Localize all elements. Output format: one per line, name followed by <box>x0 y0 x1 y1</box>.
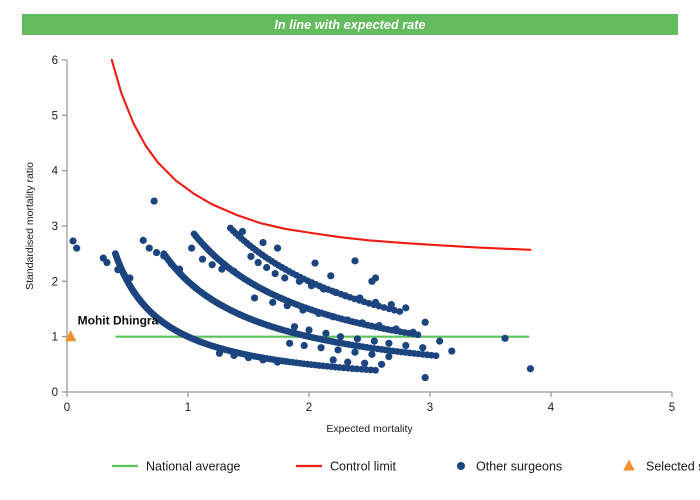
svg-text:5: 5 <box>669 402 675 414</box>
svg-text:6: 6 <box>52 55 58 67</box>
selected-surgeon-label: Mohit Dhingra <box>78 314 159 328</box>
svg-text:National average: National average <box>146 460 241 474</box>
svg-text:Control limit: Control limit <box>330 460 397 474</box>
svg-text:1: 1 <box>185 402 191 414</box>
svg-text:4: 4 <box>52 166 59 178</box>
svg-text:Selected surgeon: Selected surgeon <box>646 460 700 474</box>
other-surgeons-points[interactable] <box>69 198 534 382</box>
svg-text:3: 3 <box>52 221 58 233</box>
svg-text:Mohit Dhingra: Mohit Dhingra <box>78 314 159 328</box>
svg-text:Expected mortality: Expected mortality <box>326 423 413 435</box>
svg-text:3: 3 <box>427 402 433 414</box>
control-limit-line <box>112 60 531 250</box>
svg-text:Other surgeons: Other surgeons <box>476 460 562 474</box>
svg-text:1: 1 <box>52 332 58 344</box>
svg-text:0: 0 <box>52 387 58 399</box>
svg-text:5: 5 <box>52 110 58 122</box>
chart-legend: National averageControl limitOther surge… <box>112 460 700 474</box>
svg-text:2: 2 <box>52 276 58 288</box>
svg-text:2: 2 <box>306 402 312 414</box>
plot-svg: 0123456012345 Expected mortalityStandard… <box>0 0 700 500</box>
svg-text:0: 0 <box>64 402 70 414</box>
svg-text:Standardised mortality ratio: Standardised mortality ratio <box>24 162 36 290</box>
svg-text:4: 4 <box>548 402 555 414</box>
funnel-plot-chart: 0123456012345 Expected mortalityStandard… <box>0 0 700 500</box>
